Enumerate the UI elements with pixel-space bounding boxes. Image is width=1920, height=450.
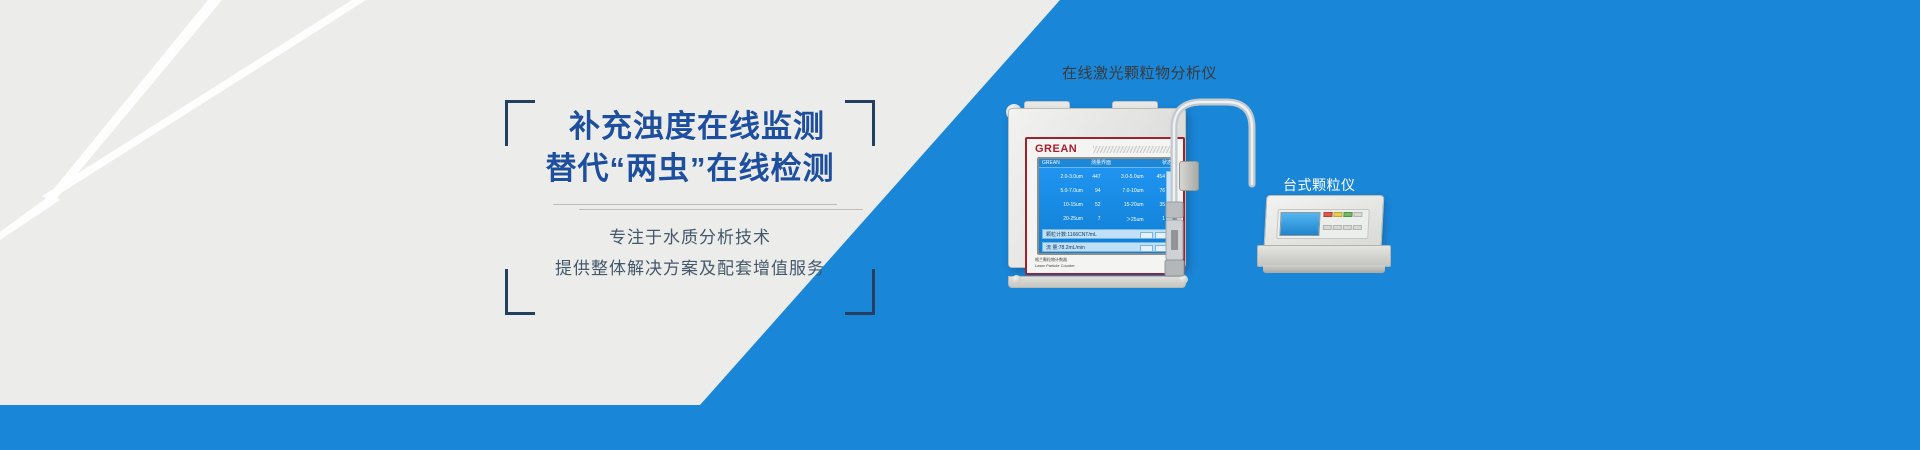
bench-key[interactable] [1323, 225, 1332, 230]
background-graphics [0, 0, 1920, 450]
table-row: 2.0-3.0um 447 3.0-5.0um 454 [1042, 170, 1165, 184]
bench-analyzer-device [1255, 195, 1395, 300]
cell-size-b: ＞25um [1105, 216, 1144, 223]
screen-button[interactable] [1155, 245, 1168, 252]
divider [553, 204, 863, 210]
analyzer-vent-hatch [1093, 146, 1177, 153]
screen-header-right: 状态 [1162, 159, 1172, 168]
bench-base [1257, 245, 1391, 267]
analyzer-body: GREAN GREAN 测量界面 状态 2.0-3.0um 447 3.0-5.… [1008, 108, 1186, 268]
bench-key[interactable] [1323, 212, 1332, 217]
screen-scrollbar[interactable] [1166, 171, 1173, 225]
screen-button[interactable] [1140, 245, 1153, 252]
subtitle: 专注于水质分析技术 提供整体解决方案及配套增值服务 [505, 222, 875, 284]
screen-buttons-row-2[interactable] [1140, 244, 1168, 252]
bench-key[interactable] [1333, 225, 1342, 230]
banner-root: 补充浊度在线监测 替代“两虫”在线检测 专注于水质分析技术 提供整体解决方案及配… [0, 0, 1920, 450]
bench-screen[interactable] [1279, 212, 1320, 236]
screen-header-left: GREAN [1042, 159, 1060, 168]
headline-block: 补充浊度在线监测 替代“两虫”在线检测 专注于水质分析技术 提供整体解决方案及配… [505, 100, 875, 315]
screen-buttons-row-1[interactable] [1140, 231, 1168, 239]
cell-count-b: 76 [1144, 188, 1165, 194]
analyzer-screen[interactable]: GREAN 测量界面 状态 2.0-3.0um 447 3.0-5.0um 45… [1037, 157, 1177, 255]
table-row: 20-25um 7 ＞25um 1 [1042, 212, 1165, 226]
bench-key[interactable] [1333, 212, 1342, 217]
screen-status-line-2: 流 量:78.2mL/min [1042, 242, 1172, 252]
cell-size-a: 10-15um [1042, 202, 1083, 208]
analyzer-screw-left [1012, 275, 1021, 284]
cell-size-b: 15-20um [1105, 202, 1144, 208]
bench-control-panel [1276, 209, 1370, 239]
cell-count-b: 35 [1144, 202, 1165, 208]
cell-count-b: 454 [1144, 174, 1165, 180]
bench-keypad[interactable] [1319, 212, 1366, 236]
blue-bottom-bar [0, 405, 1920, 450]
analyzer-screw-right [1179, 275, 1188, 284]
accent-line-shallow [42, 0, 366, 200]
screen-button[interactable] [1155, 232, 1168, 239]
subtitle-line-1: 专注于水质分析技术 [505, 222, 875, 253]
headline-line-2: 替代“两虫”在线检测 [505, 148, 875, 190]
divider-line-upper [553, 204, 837, 205]
screen-button[interactable] [1140, 232, 1153, 239]
bench-foot [1263, 265, 1385, 273]
cell-size-a: 20-25um [1042, 216, 1083, 222]
screen-header: GREAN 测量界面 状态 [1039, 159, 1175, 168]
headline: 补充浊度在线监测 替代“两虫”在线检测 [505, 106, 875, 190]
online-analyzer-device: GREAN GREAN 测量界面 状态 2.0-3.0um 447 3.0-5.… [1000, 90, 1200, 280]
cell-count-a: 447 [1083, 174, 1105, 180]
label-online-analyzer: 在线激光颗粒物分析仪 [1062, 62, 1217, 83]
accent-line-steep [48, 0, 222, 198]
label-bench-analyzer: 台式颗粒仪 [1283, 175, 1356, 195]
analyzer-brand-text: GREAN [1035, 143, 1077, 155]
bench-key[interactable] [1353, 212, 1362, 217]
cell-count-a: 7 [1083, 216, 1105, 222]
analyzer-bottom-plate [1008, 276, 1186, 288]
cell-count-a: 52 [1083, 202, 1105, 208]
cell-size-a: 2.0-3.0um [1042, 174, 1083, 180]
analyzer-footer-en: Laser Particle Counter [1035, 263, 1075, 269]
divider-line-lower [579, 209, 863, 210]
bench-key[interactable] [1343, 225, 1352, 230]
analyzer-face-panel: GREAN GREAN 测量界面 状态 2.0-3.0um 447 3.0-5.… [1025, 137, 1185, 275]
subtitle-line-2: 提供整体解决方案及配套增值服务 [505, 253, 875, 284]
bench-key[interactable] [1343, 212, 1352, 217]
bench-key[interactable] [1353, 225, 1362, 230]
cell-size-a: 5.0-7.0um [1042, 188, 1083, 194]
cell-count-a: 94 [1083, 188, 1105, 194]
screen-header-center: 测量界面 [1091, 159, 1111, 168]
table-row: 5.0-7.0um 94 7.0-10um 76 [1042, 184, 1165, 198]
cell-size-b: 3.0-5.0um [1105, 174, 1144, 180]
cell-size-b: 7.0-10um [1105, 188, 1144, 194]
analyzer-footer-text: 格兰颗粒物计数器 Laser Particle Counter [1035, 257, 1075, 269]
screen-data-table: 2.0-3.0um 447 3.0-5.0um 454 5.0-7.0um 94… [1042, 170, 1165, 226]
table-row: 10-15um 52 15-20um 35 [1042, 198, 1165, 212]
screen-status-line-1: 颗粒计数:1166CNT/mL [1042, 229, 1172, 239]
accent-line-lower [0, 194, 60, 240]
headline-line-1: 补充浊度在线监测 [505, 106, 875, 148]
cell-count-b: 1 [1144, 216, 1165, 222]
